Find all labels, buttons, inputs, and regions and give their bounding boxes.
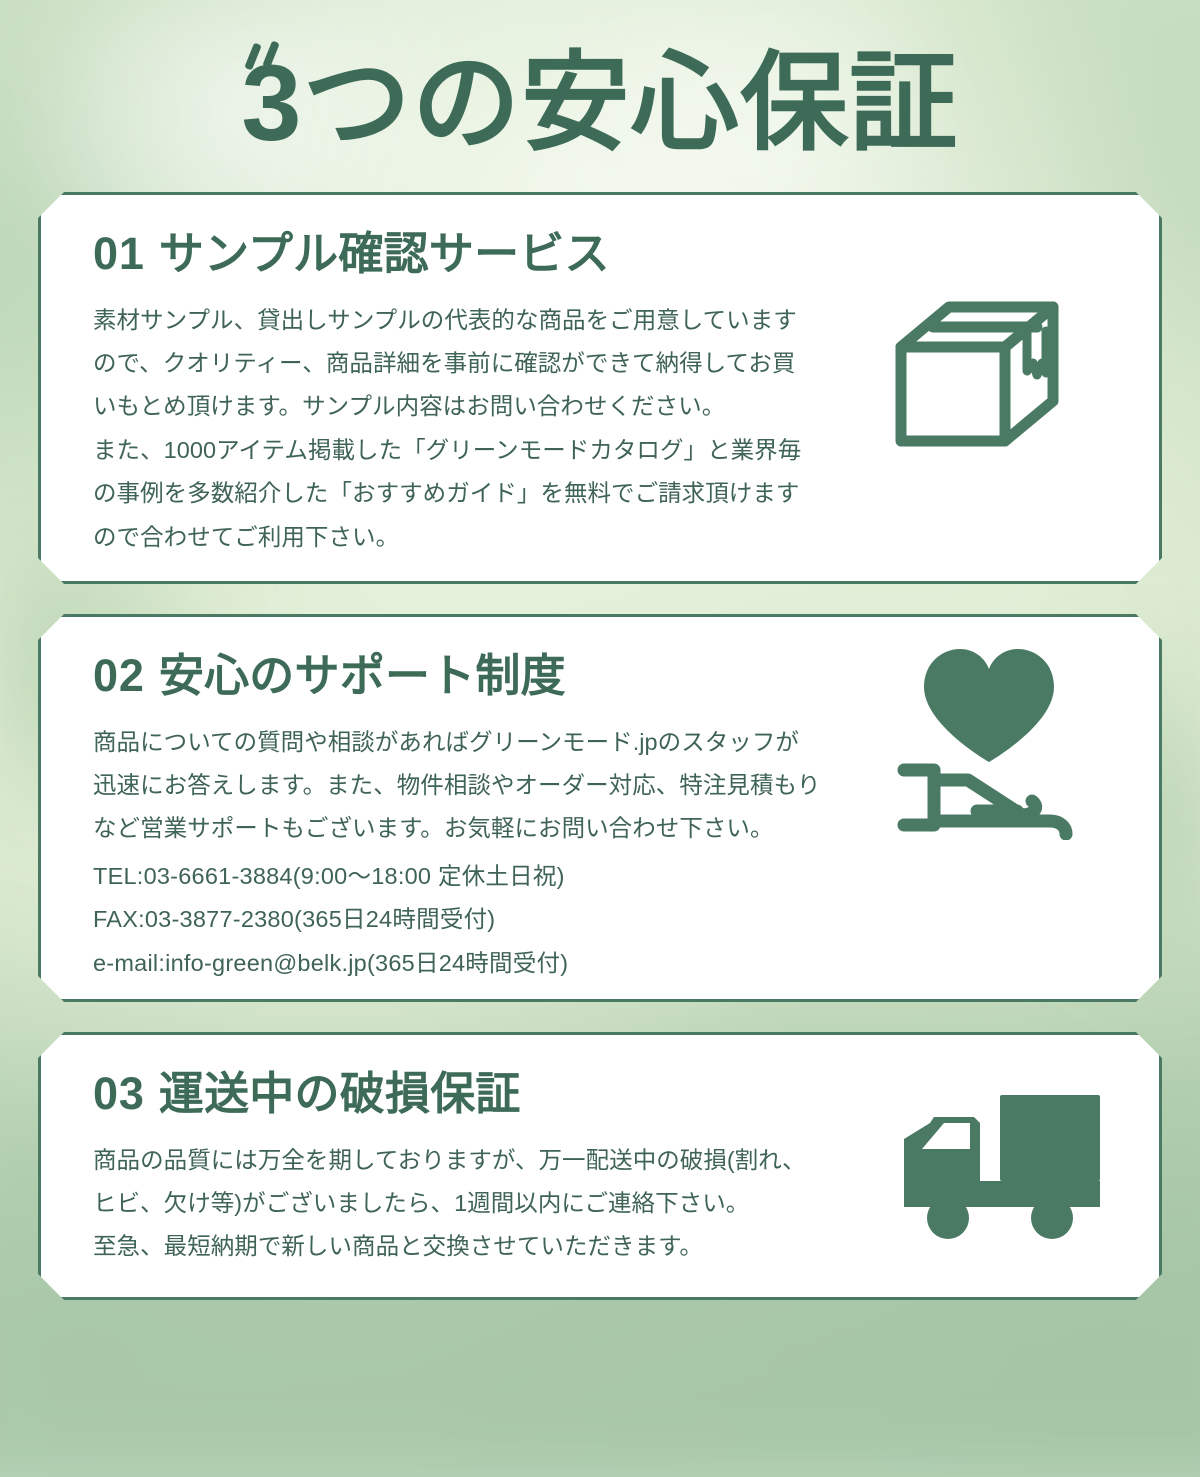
emphasis-ticks-icon <box>247 41 291 75</box>
body-line: ので、クオリティー、商品詳細を事前に確認ができて納得してお買 <box>93 342 893 385</box>
body-line: ヒビ、欠け等)がございましたら、1週間以内にご連絡下さい。 <box>93 1182 893 1225</box>
card-body-01: 素材サンプル、貸出しサンプルの代表的な商品をご用意しています ので、クオリティー… <box>93 299 893 560</box>
card-content-03: 03運送中の破損保証 商品の品質には万全を期しておりますが、万一配送中の破損(割… <box>41 1035 1159 1297</box>
card-number-02: 02 <box>93 650 145 701</box>
body-line: の事例を多数紹介した「おすすめガイド」を無料でご請求頂けます <box>93 472 893 515</box>
page-header: 3つの安心保証 <box>38 0 1162 192</box>
card-body-03: 商品の品質には万全を期しておりますが、万一配送中の破損(割れ、 ヒビ、欠け等)が… <box>93 1139 893 1269</box>
body-line: また、1000アイテム掲載した「グリーンモードカタログ」と業界毎 <box>93 429 893 472</box>
contact-email[interactable]: e-mail:info-green@belk.jp(365日24時間受付) <box>93 942 893 985</box>
body-line: 素材サンプル、貸出しサンプルの代表的な商品をご用意しています <box>93 299 893 342</box>
body-line: 商品についての質問や相談があればグリーンモード.jpのスタッフが <box>93 721 893 764</box>
card-title-02: 安心のサポート制度 <box>159 650 566 701</box>
card-heading-03: 03運送中の破損保証 <box>93 1069 1107 1119</box>
body-line: 商品の品質には万全を期しておりますが、万一配送中の破損(割れ、 <box>93 1139 893 1182</box>
card-heading-01: 01サンプル確認サービス <box>93 229 1107 279</box>
card-title-03: 運送中の破損保証 <box>159 1068 521 1119</box>
contact-details: TEL:03-6661-3884(9:00〜18:00 定休土日祝) FAX:0… <box>93 855 893 985</box>
page-title-text: 3つの安心保証 <box>241 42 958 163</box>
card-content-02: 02安心のサポート制度 商品についての質問や相談があればグリーンモード.jpのス… <box>41 617 1159 999</box>
guarantee-page: 3つの安心保証 01サンプル確認サービス 素材サンプル、貸出しサンプルの代表的な… <box>0 0 1200 1393</box>
guarantee-card-03: 03運送中の破損保証 商品の品質には万全を期しておりますが、万一配送中の破損(割… <box>38 1032 1162 1300</box>
guarantee-card-01: 01サンプル確認サービス 素材サンプル、貸出しサンプルの代表的な商品をご用意して… <box>38 192 1162 584</box>
card-title-01: サンプル確認サービス <box>159 228 610 279</box>
card-number-03: 03 <box>93 1068 145 1119</box>
card-number-01: 01 <box>93 228 145 279</box>
contact-fax: FAX:03-3877-2380(365日24時間受付) <box>93 898 893 941</box>
page-title: 3つの安心保証 <box>241 35 958 157</box>
card-body-02: 商品についての質問や相談があればグリーンモード.jpのスタッフが 迅速にお答えし… <box>93 721 893 986</box>
body-line: 至急、最短納期で新しい商品と交換させていただきます。 <box>93 1225 893 1268</box>
cardboard-box-icon <box>887 291 1107 461</box>
body-line: 迅速にお答えします。また、物件相談やオーダー対応、特注見積もり <box>93 764 893 807</box>
guarantee-card-02: 02安心のサポート制度 商品についての質問や相談があればグリーンモード.jpのス… <box>38 614 1162 1002</box>
body-line: いもとめ頂けます。サンプル内容はお問い合わせください。 <box>93 385 893 428</box>
card-heading-02: 02安心のサポート制度 <box>93 651 1107 701</box>
card-content-01: 01サンプル確認サービス 素材サンプル、貸出しサンプルの代表的な商品をご用意して… <box>41 195 1159 581</box>
contact-tel[interactable]: TEL:03-6661-3884(9:00〜18:00 定休土日祝) <box>93 855 893 898</box>
body-line: ので合わせてご利用下さい。 <box>93 516 893 559</box>
body-line: など営業サポートもございます。お気軽にお問い合わせ下さい。 <box>93 807 893 850</box>
